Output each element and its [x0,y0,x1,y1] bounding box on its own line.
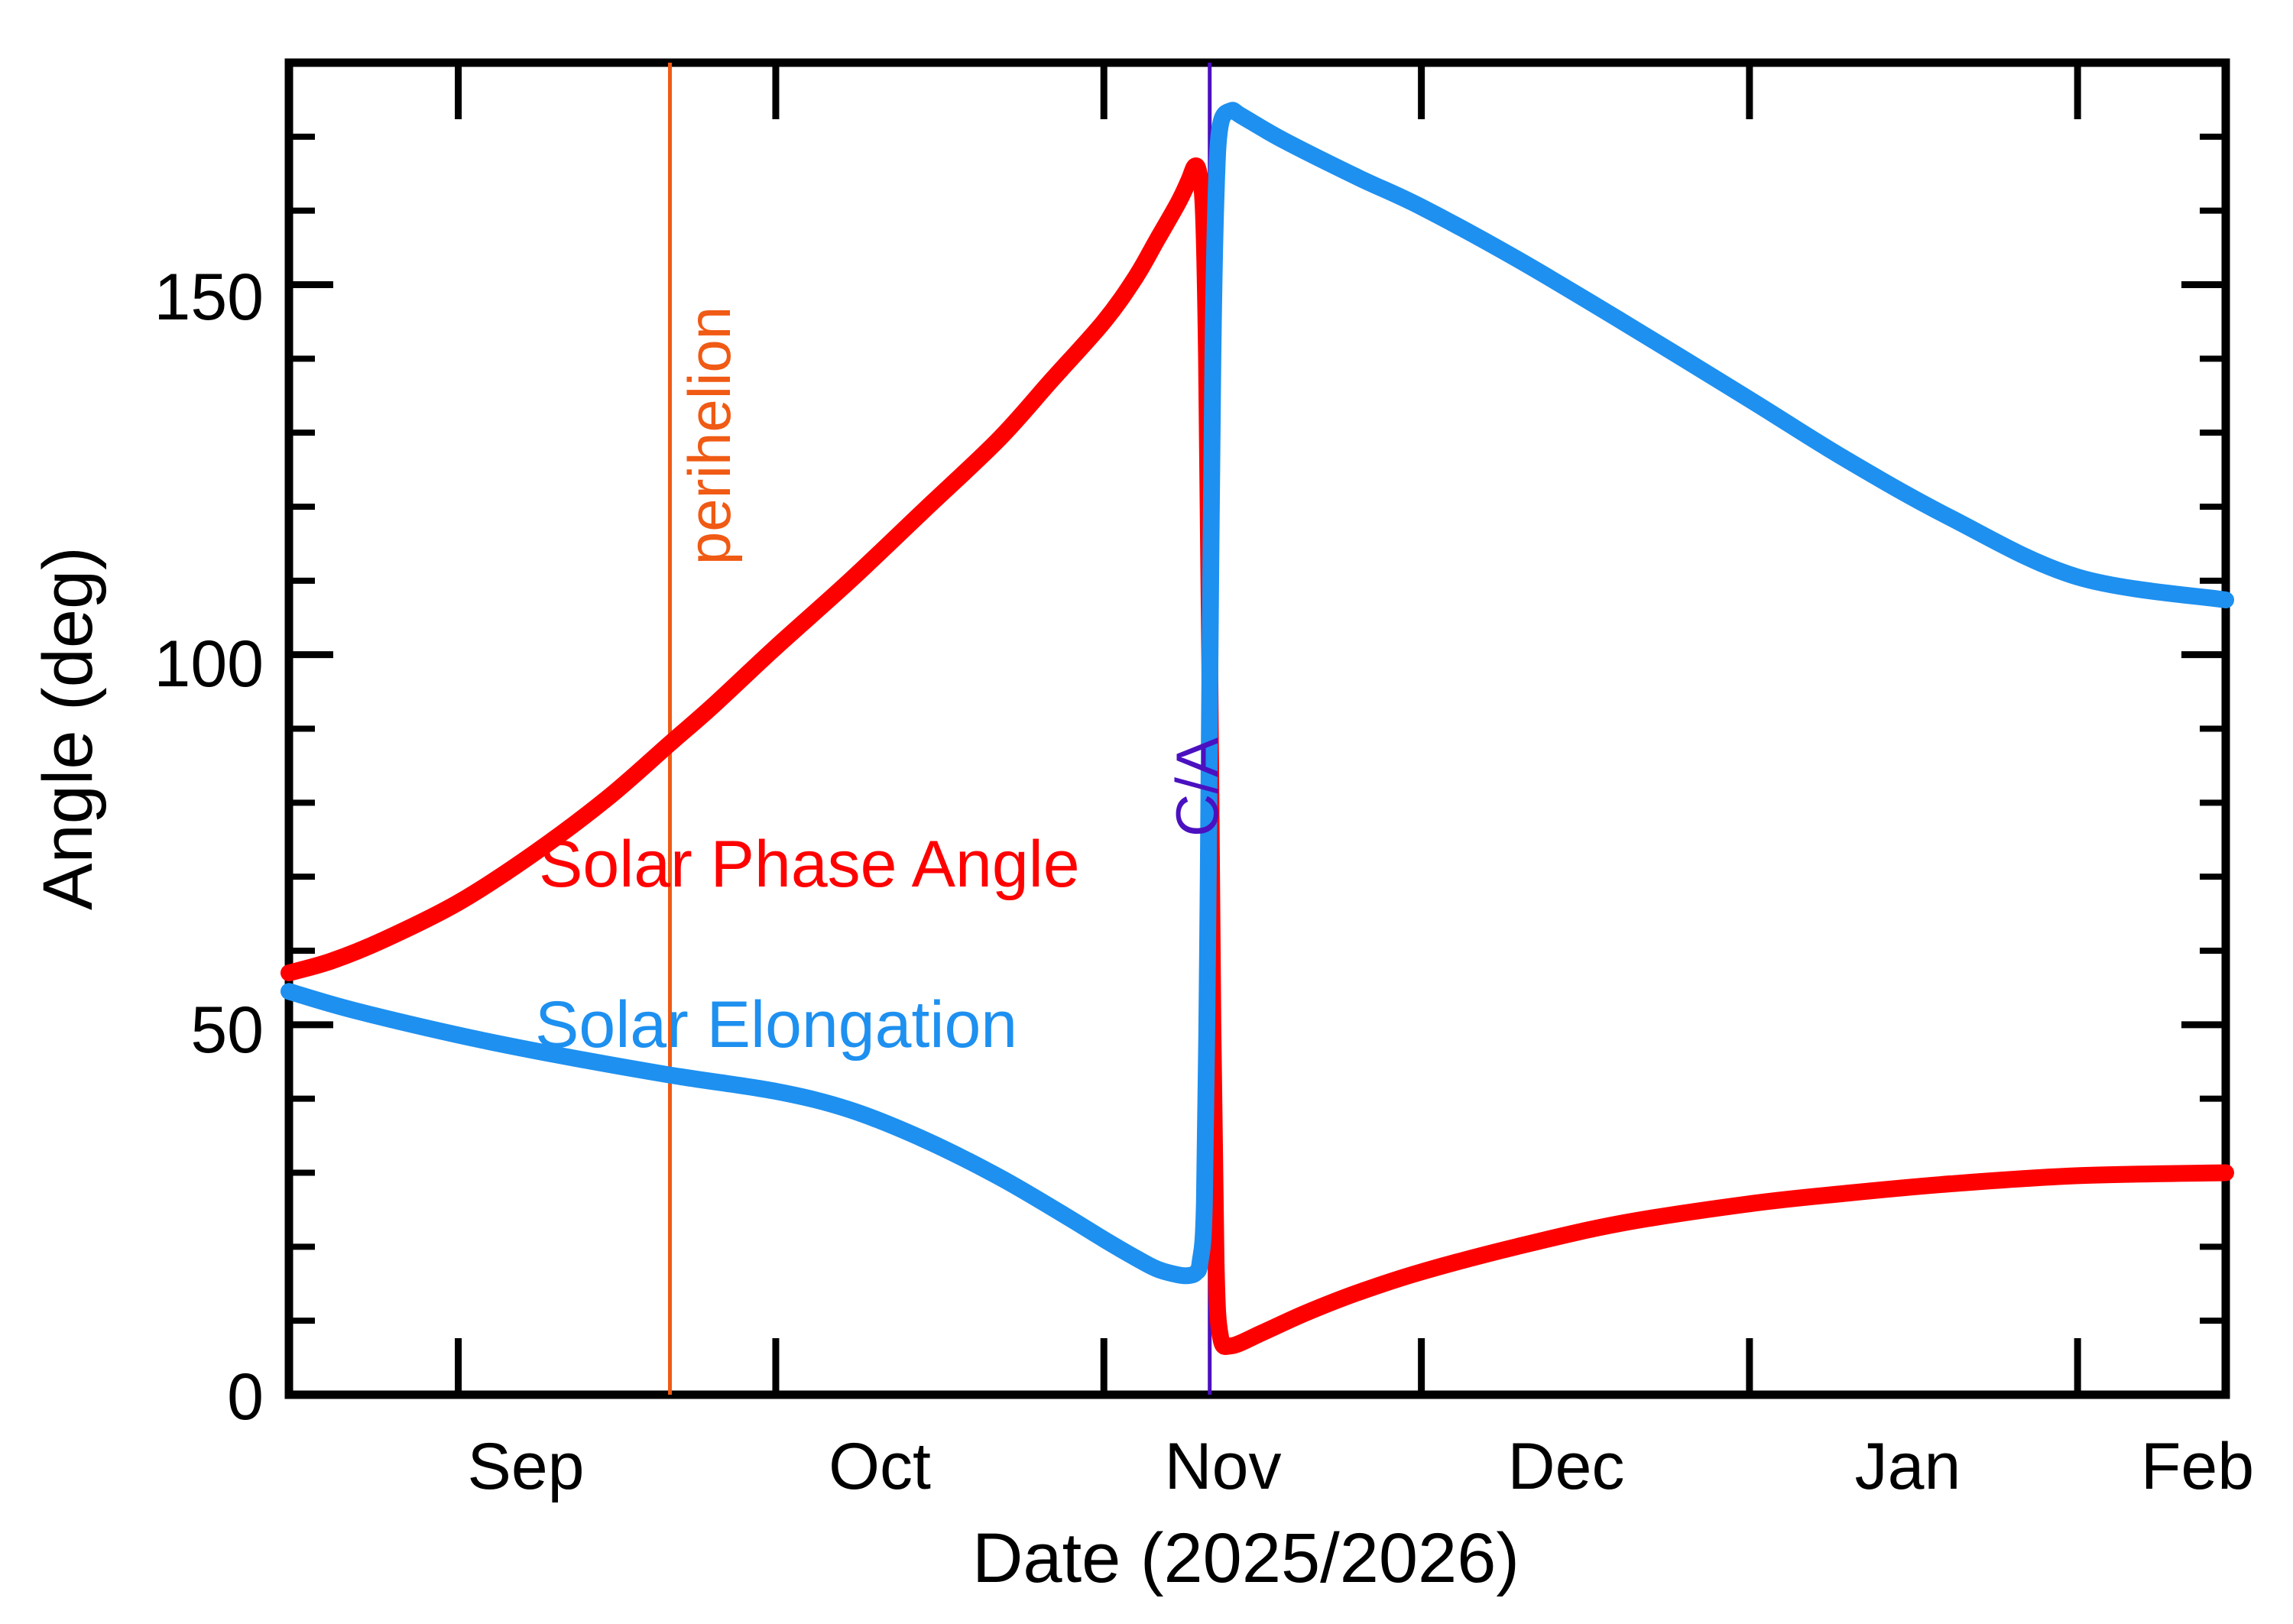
y-tick-label-50: 50 [190,994,264,1067]
chart-canvas: 0 50 100 150 Sep Oct Nov Dec Jan Feb Ang… [0,0,2293,1624]
y-tick-label-100: 100 [154,627,264,701]
series-label-solar-phase-angle: Solar Phase Angle [539,828,1080,901]
perihelion-annotation-label: perihelion [676,306,743,565]
y-tick-label-0: 0 [227,1360,264,1434]
series-label-solar-elongation: Solar Elongation [535,988,1017,1062]
x-tick-label-sep: Sep [467,1430,584,1503]
x-tick-label-dec: Dec [1508,1430,1625,1503]
x-tick-label-nov: Nov [1165,1430,1282,1503]
ca-annotation-label: C/A [1163,737,1231,837]
y-tick-label-150: 150 [154,261,264,334]
x-axis-title: Date (2025/2026) [972,1519,1519,1597]
x-tick-label-feb: Feb [2141,1430,2254,1503]
y-axis-title: Angle (deg) [29,546,107,910]
x-tick-label-jan: Jan [1855,1430,1961,1503]
x-tick-label-oct: Oct [829,1430,931,1503]
chart-figure: 0 50 100 150 Sep Oct Nov Dec Jan Feb Ang… [0,0,2293,1624]
